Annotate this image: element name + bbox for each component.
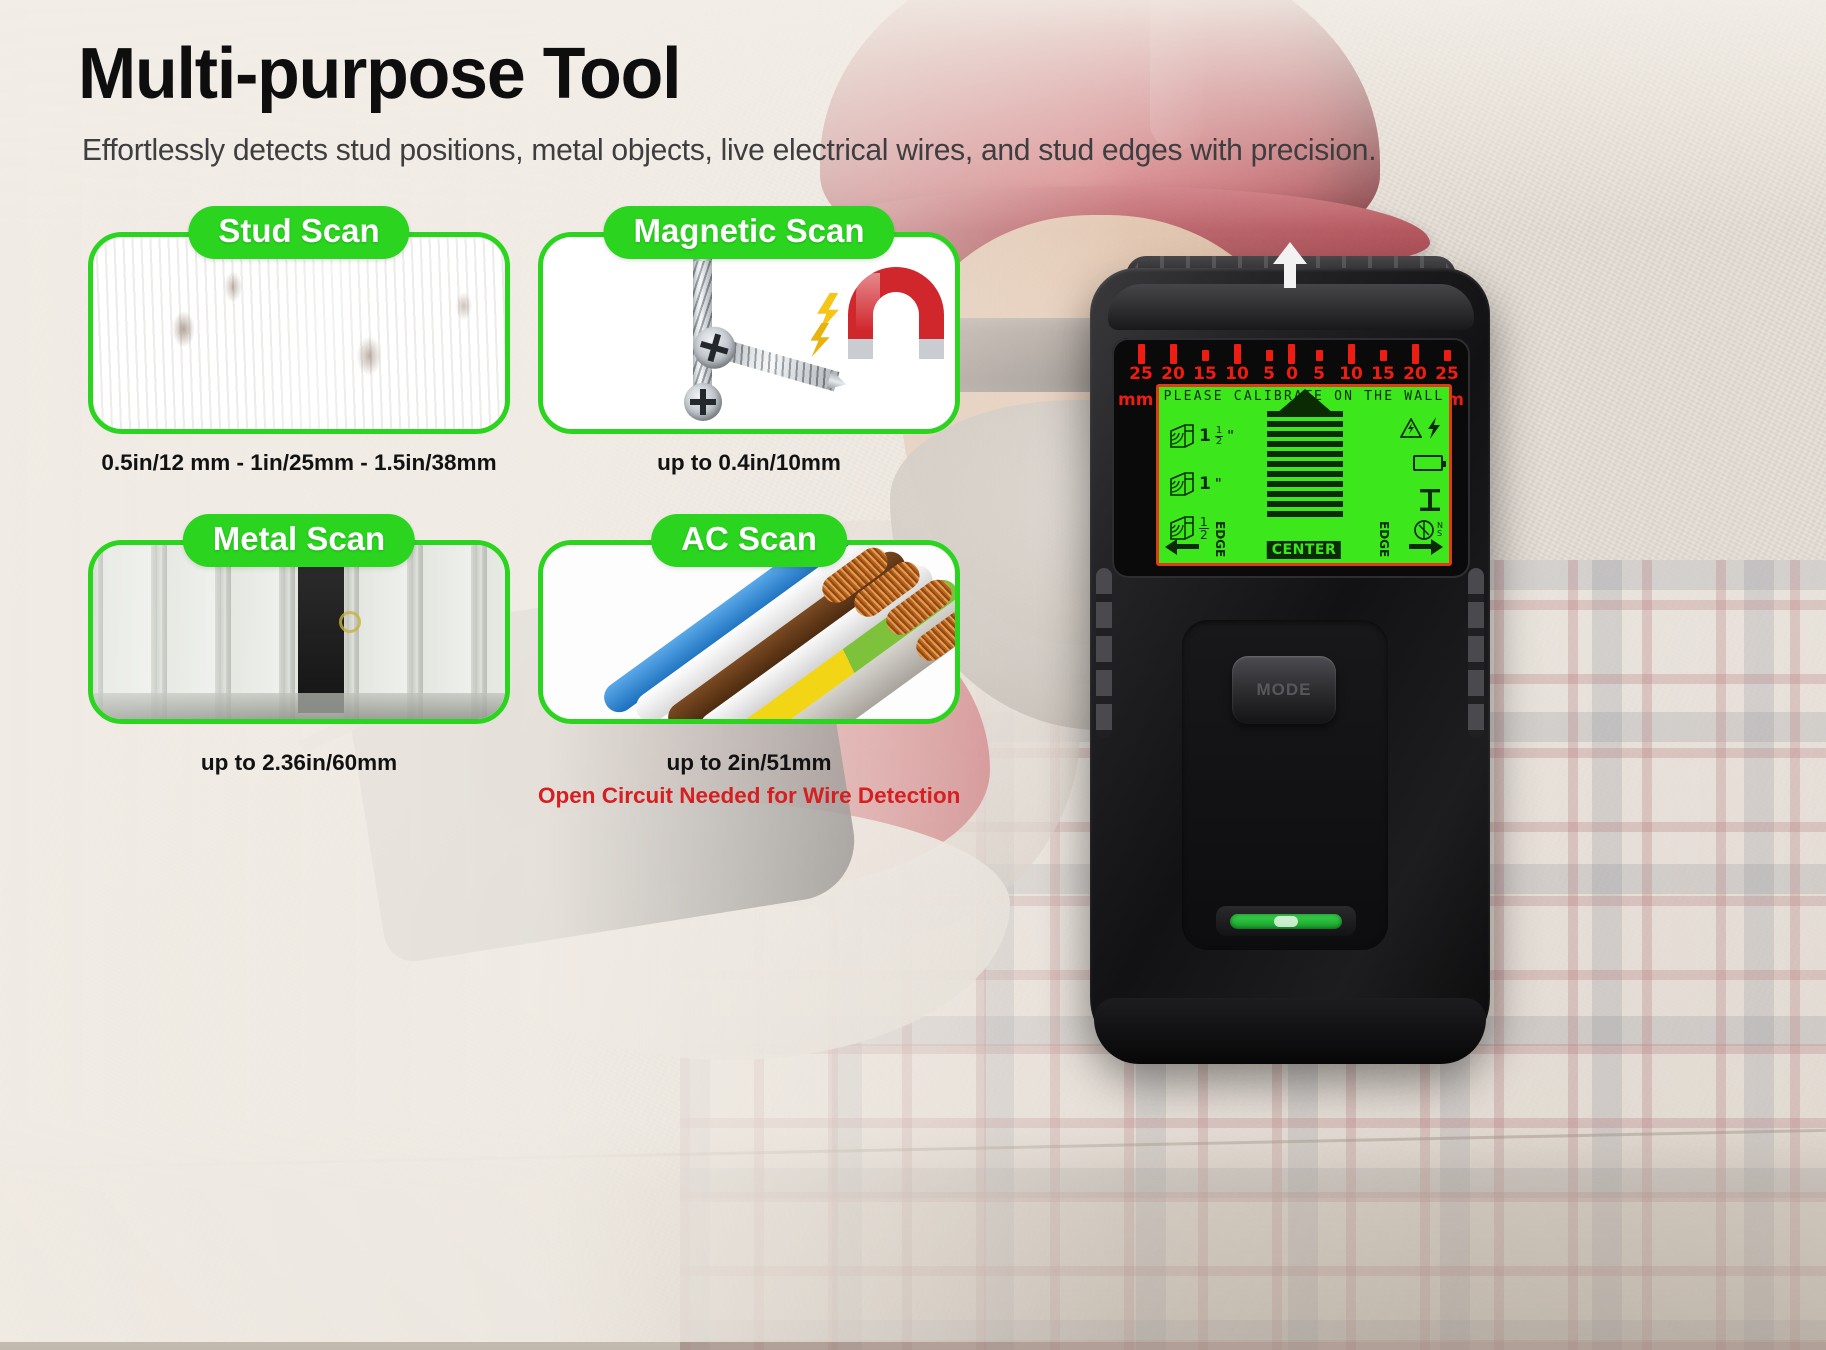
edge-arrow-left-icon xyxy=(1165,539,1177,555)
lcd-display: PLEASE CALIBRATE ON THE WALL 1 xyxy=(1156,384,1452,566)
mode-button-label: MODE xyxy=(1257,680,1312,700)
stud-center-bargraph xyxy=(1267,411,1343,527)
caption-magnetic-scan: up to 0.4in/10mm xyxy=(538,450,960,476)
scale-unit-left: mm xyxy=(1118,390,1153,410)
depth-fraction-3: 1 2 xyxy=(1199,516,1209,541)
card-frame xyxy=(538,232,960,434)
edge-arrow-right-icon xyxy=(1431,539,1443,555)
caption-stud-scan: 0.5in/12 mm - 1in/25mm - 1.5in/38mm xyxy=(88,450,510,476)
mode-button[interactable]: MODE xyxy=(1232,656,1336,724)
card-frame xyxy=(538,540,960,724)
device-grip-left xyxy=(1096,568,1112,738)
card-label-stud-scan: Stud Scan xyxy=(188,206,409,259)
feature-card-ac-scan[interactable]: AC Scan xyxy=(538,540,960,724)
page-title: Multi-purpose Tool xyxy=(78,33,680,115)
ac-scan-warning-note: Open Circuit Needed for Wire Detection xyxy=(538,783,960,809)
magnet-pole-left xyxy=(848,339,873,359)
depth-whole-2: 1 xyxy=(1199,474,1211,494)
edge-label-right: EDGE xyxy=(1377,521,1391,557)
depth-row-1-5in: 1 1 2 " xyxy=(1167,423,1234,449)
depth-row-half-in: 1 2 xyxy=(1167,515,1209,541)
depth-row-1in: 1 " xyxy=(1167,471,1222,497)
feature-card-metal-scan[interactable]: Metal Scan xyxy=(88,540,510,724)
battery-icon xyxy=(1413,455,1443,471)
card-label-magnetic-scan: Magnetic Scan xyxy=(603,206,894,259)
center-pointer-arrow-icon xyxy=(1273,242,1307,264)
scale-tick-4: 5 xyxy=(1263,364,1275,384)
magnet-compass-icon: N S xyxy=(1413,519,1443,541)
edge-label-left: EDGE xyxy=(1213,521,1227,557)
device-base xyxy=(1094,998,1486,1064)
scale-tick-7: 10 xyxy=(1339,364,1363,384)
depth-unit-2: " xyxy=(1215,477,1222,492)
wood-depth-icon xyxy=(1167,471,1195,497)
stud-photo-highlight xyxy=(93,237,505,429)
horseshoe-magnet-icon xyxy=(848,267,944,359)
depth-unit-1: " xyxy=(1227,429,1234,444)
metal-photo-highlight xyxy=(93,545,505,719)
scale-tick-9: 20 xyxy=(1403,364,1427,384)
bubble-level xyxy=(1216,906,1356,936)
center-label: CENTER xyxy=(1267,541,1341,559)
scale-tick-6: 5 xyxy=(1313,364,1325,384)
magnet-gloss xyxy=(856,273,880,331)
wood-depth-icon xyxy=(1167,423,1195,449)
scale-tick-1: 20 xyxy=(1161,364,1185,384)
device-screen-bezel: 25 20 15 10 5 0 5 10 15 20 25 mm mm PLEA… xyxy=(1112,338,1470,578)
feature-card-magnetic-scan[interactable]: Magnetic Scan xyxy=(538,232,960,434)
scale-tick-3: 10 xyxy=(1225,364,1249,384)
scale-tick-0: 25 xyxy=(1129,364,1153,384)
wood-depth-icon xyxy=(1167,515,1195,541)
feature-card-stud-scan[interactable]: Stud Scan xyxy=(88,232,510,434)
lightning-bolt-icon xyxy=(1425,417,1443,439)
card-label-ac-scan: AC Scan xyxy=(651,514,847,567)
scale-tick-2: 15 xyxy=(1193,364,1217,384)
caption-metal-scan: up to 2.36in/60mm xyxy=(88,750,510,776)
caption-ac-scan: up to 2in/51mm xyxy=(538,750,960,776)
device-grip-right xyxy=(1468,568,1484,738)
device-shoulder xyxy=(1108,284,1474,330)
card-label-metal-scan: Metal Scan xyxy=(183,514,415,567)
scale-tick-10: 25 xyxy=(1435,364,1459,384)
scale-tick-8: 15 xyxy=(1371,364,1395,384)
compass-south-label: S xyxy=(1437,530,1443,538)
bargraph-arrow-cap xyxy=(1277,389,1333,413)
level-tube xyxy=(1230,914,1342,929)
metal-beam-icon xyxy=(1417,487,1443,518)
level-bubble xyxy=(1274,916,1298,927)
card-frame xyxy=(88,232,510,434)
center-pointer-stem xyxy=(1284,262,1296,288)
ac-warning-icon xyxy=(1400,417,1443,439)
page-subtitle: Effortlessly detects stud positions, met… xyxy=(82,133,1376,168)
scale-tick-5: 0 xyxy=(1286,364,1298,384)
card-frame xyxy=(88,540,510,724)
magnet-pole-right xyxy=(919,339,944,359)
stud-finder-device[interactable]: 25 20 15 10 5 0 5 10 15 20 25 mm mm PLEA… xyxy=(1090,268,1490,1058)
depth-whole-1: 1 xyxy=(1199,426,1211,446)
depth-fraction-1: 1 2 xyxy=(1215,426,1223,447)
